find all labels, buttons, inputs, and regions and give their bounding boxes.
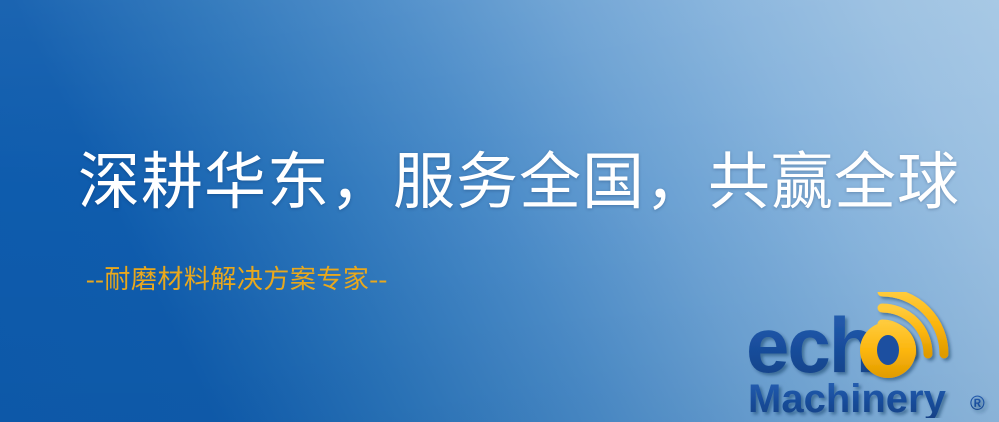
logo-echo-ech: ech: [746, 301, 874, 389]
banner-subtitle: --耐磨材料解决方案专家--: [86, 266, 388, 295]
company-logo[interactable]: ech Machinery ®: [742, 292, 994, 418]
banner-headline: 深耕华东，服务全国，共赢全球: [78, 152, 960, 214]
logo-echo-o: [860, 322, 916, 378]
logo-machinery-word: Machinery: [748, 377, 947, 418]
logo-svg: ech Machinery ®: [742, 292, 994, 418]
hero-banner: 深耕华东，服务全国，共赢全球 --耐磨材料解决方案专家--: [0, 0, 999, 422]
logo-registered-mark: ®: [970, 393, 985, 415]
